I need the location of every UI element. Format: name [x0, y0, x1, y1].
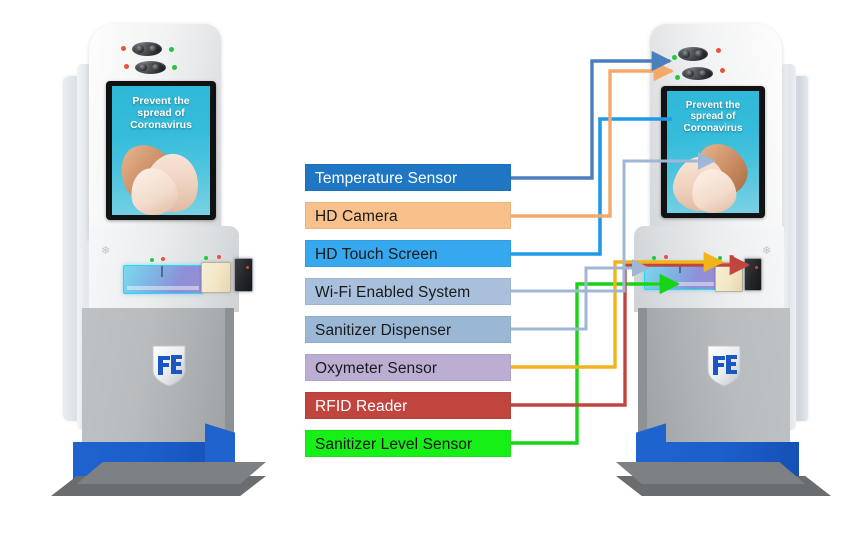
feature-label-text: Sanitizer Dispenser: [315, 322, 451, 339]
feature-label-oxymeter-sensor[interactable]: Oxymeter Sensor: [305, 354, 511, 381]
lower-sensor-pod: [135, 61, 166, 74]
feature-label-hd-touch-screen[interactable]: HD Touch Screen: [305, 240, 511, 267]
sensor-lens: [682, 50, 690, 58]
display-bezel: Prevent the spread of Coronavirus: [661, 86, 765, 218]
top-sensor-pod: [678, 47, 708, 61]
display-screen[interactable]: Prevent the spread of Coronavirus: [667, 91, 759, 213]
feature-label-text: RFID Reader: [315, 398, 407, 415]
led-indicator-green: [172, 65, 177, 70]
led-indicator-red: [716, 48, 721, 53]
sensor-lens: [136, 45, 144, 53]
led-indicator-green: [150, 258, 154, 262]
led-indicator-red: [720, 68, 725, 73]
kiosk-column-edge: [225, 308, 234, 440]
brand-logo: [149, 344, 189, 388]
rfid-panel[interactable]: [744, 258, 762, 291]
feature-label-text: HD Camera: [315, 208, 398, 225]
oxymeter-panel[interactable]: [715, 262, 743, 292]
handwash-illustration: [670, 139, 756, 213]
sensor-lens: [139, 64, 147, 71]
sensor-lens: [695, 50, 703, 58]
oxymeter-panel[interactable]: [201, 262, 231, 293]
snowflake-icon: ❄: [762, 246, 771, 257]
led-indicator-green: [204, 256, 208, 260]
feature-label-rfid-reader[interactable]: RFID Reader: [305, 392, 511, 419]
rfid-panel[interactable]: [234, 258, 253, 292]
led-indicator-red: [730, 255, 734, 259]
dispenser-stem: [161, 266, 163, 277]
screen-headline: Prevent the spread of Coronavirus: [112, 96, 210, 132]
display-screen[interactable]: Prevent the spread of Coronavirus: [112, 86, 210, 215]
sensor-lens: [149, 45, 157, 53]
feature-label-text: HD Touch Screen: [315, 246, 438, 263]
led-indicator-red: [121, 46, 126, 51]
dispenser-nozzle[interactable]: [644, 262, 718, 290]
rfid-indicator-dot: [755, 266, 758, 269]
snowflake-icon: ❄: [101, 246, 110, 257]
brand-logo: [704, 344, 744, 388]
led-indicator-green: [718, 256, 722, 260]
wire-sanitizer-dispenser: [511, 268, 648, 329]
led-indicator-red: [217, 255, 221, 259]
feature-label-sanitizer-dispenser[interactable]: Sanitizer Dispenser: [305, 316, 511, 343]
screen-headline: Prevent the spread of Coronavirus: [667, 100, 759, 134]
handwash-illustration: [115, 138, 207, 215]
sensor-lens: [152, 64, 160, 71]
sensor-lens: [699, 70, 707, 77]
diagram-canvas: Prevent the spread of Coronavirus ❄: [0, 0, 863, 542]
rfid-indicator-dot: [246, 266, 249, 269]
kiosk-right: Prevent the spread of Coronavirus ❄: [630, 24, 863, 500]
feature-label-wifi-enabled-system[interactable]: Wi-Fi Enabled System: [305, 278, 511, 305]
led-indicator-red: [664, 255, 668, 259]
led-indicator-red: [161, 257, 165, 261]
kiosk-left: Prevent the spread of Coronavirus ❄: [45, 24, 300, 500]
display-bezel: Prevent the spread of Coronavirus: [106, 81, 216, 220]
feature-label-sanitizer-level-sensor[interactable]: Sanitizer Level Sensor: [305, 430, 511, 457]
top-sensor-pod: [132, 42, 162, 56]
feature-label-text: Oxymeter Sensor: [315, 360, 437, 377]
sensor-lens: [686, 70, 694, 77]
led-indicator-green: [169, 47, 174, 52]
dispenser-lip: [127, 286, 199, 290]
lower-sensor-pod: [682, 67, 713, 80]
led-indicator-green: [652, 256, 656, 260]
dispenser-nozzle[interactable]: [123, 265, 203, 294]
dispenser-lip: [648, 282, 714, 286]
feature-label-text: Temperature Sensor: [315, 170, 457, 187]
led-indicator-red: [124, 64, 129, 69]
led-indicator-green: [675, 75, 680, 80]
kiosk-column-edge: [638, 308, 647, 440]
feature-label-text: Sanitizer Level Sensor: [315, 436, 472, 453]
feature-label-text: Wi-Fi Enabled System: [315, 284, 470, 301]
dispenser-stem: [679, 263, 681, 273]
feature-label-temperature-sensor[interactable]: Temperature Sensor: [305, 164, 511, 191]
led-indicator-green: [672, 55, 677, 60]
feature-label-hd-camera[interactable]: HD Camera: [305, 202, 511, 229]
